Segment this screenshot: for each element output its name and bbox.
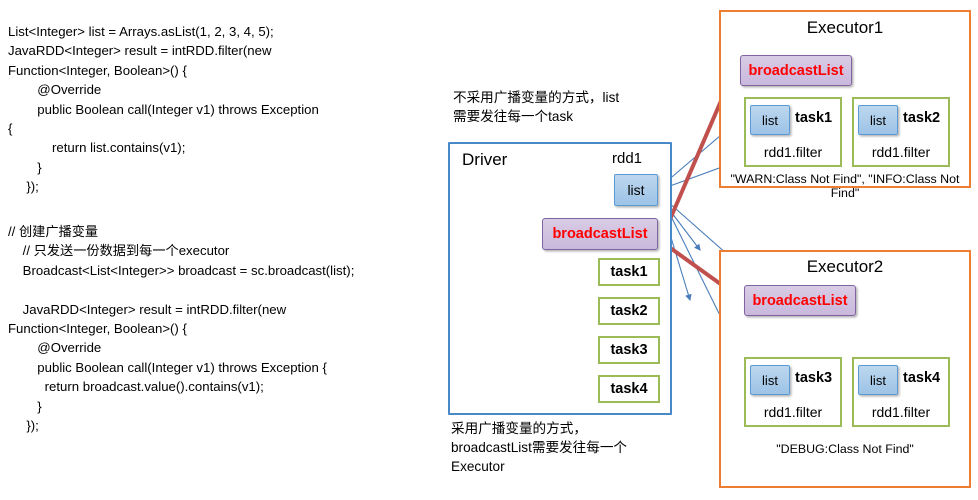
executor1-task1-list-box: list (750, 105, 790, 135)
driver-title: Driver (462, 150, 507, 170)
executor2-task3-list-box: list (750, 365, 790, 395)
executor2-note: "DEBUG:Class Not Find" (719, 442, 971, 456)
executor2-title: Executor2 (719, 257, 971, 277)
executor2-broadcast-list-box: broadcastList (744, 285, 856, 316)
code-block-without-broadcast: List<Integer> list = Arrays.asList(1, 2,… (8, 22, 434, 197)
code-panel: List<Integer> list = Arrays.asList(1, 2,… (0, 0, 440, 500)
executor2-task3-label: task3 (795, 370, 832, 386)
driver-task-box: task3 (598, 336, 660, 364)
caption-with-broadcast: 采用广播变量的方式， broadcastList需要发往每一个 Executor (451, 419, 691, 476)
executor2-task4-filter: rdd1.filter (852, 404, 950, 420)
driver-task-box: task4 (598, 375, 660, 403)
executor2-task4-list-box: list (858, 365, 898, 395)
executor1-note: "WARN:Class Not Find", "INFO:Class Not F… (719, 172, 971, 200)
executor2-task4-label: task4 (903, 370, 940, 386)
driver-broadcast-list-box: broadcastList (542, 218, 658, 250)
executor1-task1-filter: rdd1.filter (744, 144, 842, 160)
executor1-task1-label: task1 (795, 110, 832, 126)
executor2-task3-filter: rdd1.filter (744, 404, 842, 420)
rdd1-label: rdd1 (612, 150, 642, 167)
executor1-title: Executor1 (719, 18, 971, 38)
executor1-task2-label: task2 (903, 110, 940, 126)
executor1-task2-filter: rdd1.filter (852, 144, 950, 160)
driver-list-box: list (614, 174, 658, 206)
caption-no-broadcast: 不采用广播变量的方式，list 需要发往每一个task (453, 88, 688, 126)
executor1-broadcast-list-box: broadcastList (740, 55, 852, 86)
code-block-with-broadcast: // 创建广播变量 // 只发送一份数据到每一个executor Broadca… (8, 222, 434, 435)
driver-task-box: task2 (598, 297, 660, 325)
driver-task-box: task1 (598, 258, 660, 286)
executor1-task2-list-box: list (858, 105, 898, 135)
